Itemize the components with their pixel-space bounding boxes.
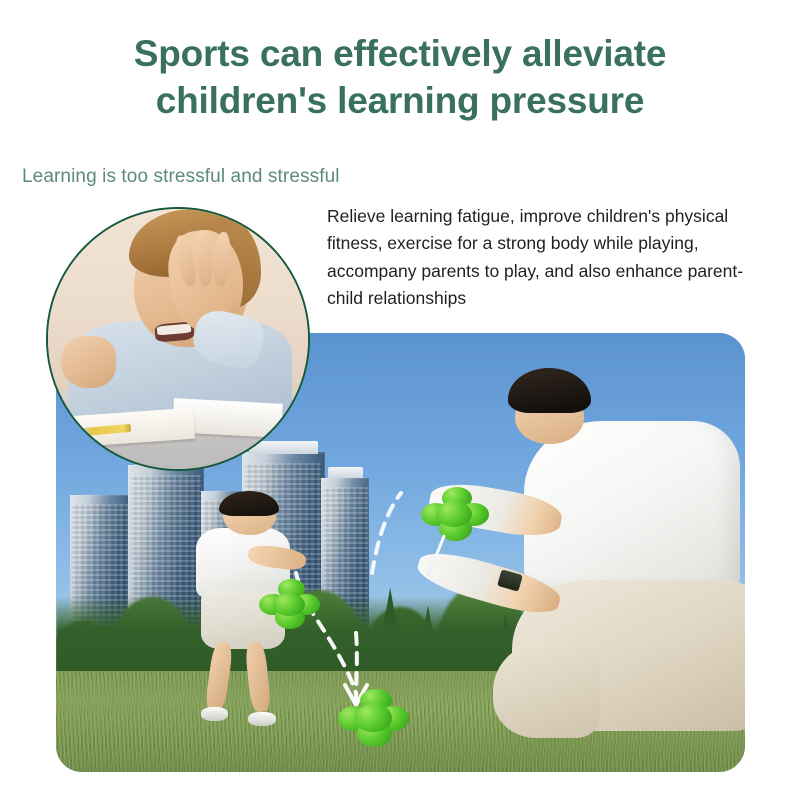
infographic-page: Sports can effectively alleviate childre… bbox=[0, 0, 800, 800]
toy-in-childs-hand bbox=[259, 579, 321, 636]
toy-in-flight bbox=[421, 487, 490, 548]
stressed-child-circle-photo bbox=[46, 207, 310, 471]
child-clenched-fist bbox=[61, 336, 116, 388]
section-subtitle: Learning is too stressful and stressful bbox=[22, 166, 340, 188]
toy-on-grass bbox=[338, 689, 410, 755]
page-title: Sports can effectively alleviate childre… bbox=[0, 30, 800, 125]
page-title-line-2: children's learning pressure bbox=[0, 77, 800, 124]
page-title-line-1: Sports can effectively alleviate bbox=[134, 33, 666, 74]
body-paragraph: Relieve learning fatigue, improve childr… bbox=[327, 203, 762, 312]
circle-photo-content bbox=[48, 209, 308, 469]
